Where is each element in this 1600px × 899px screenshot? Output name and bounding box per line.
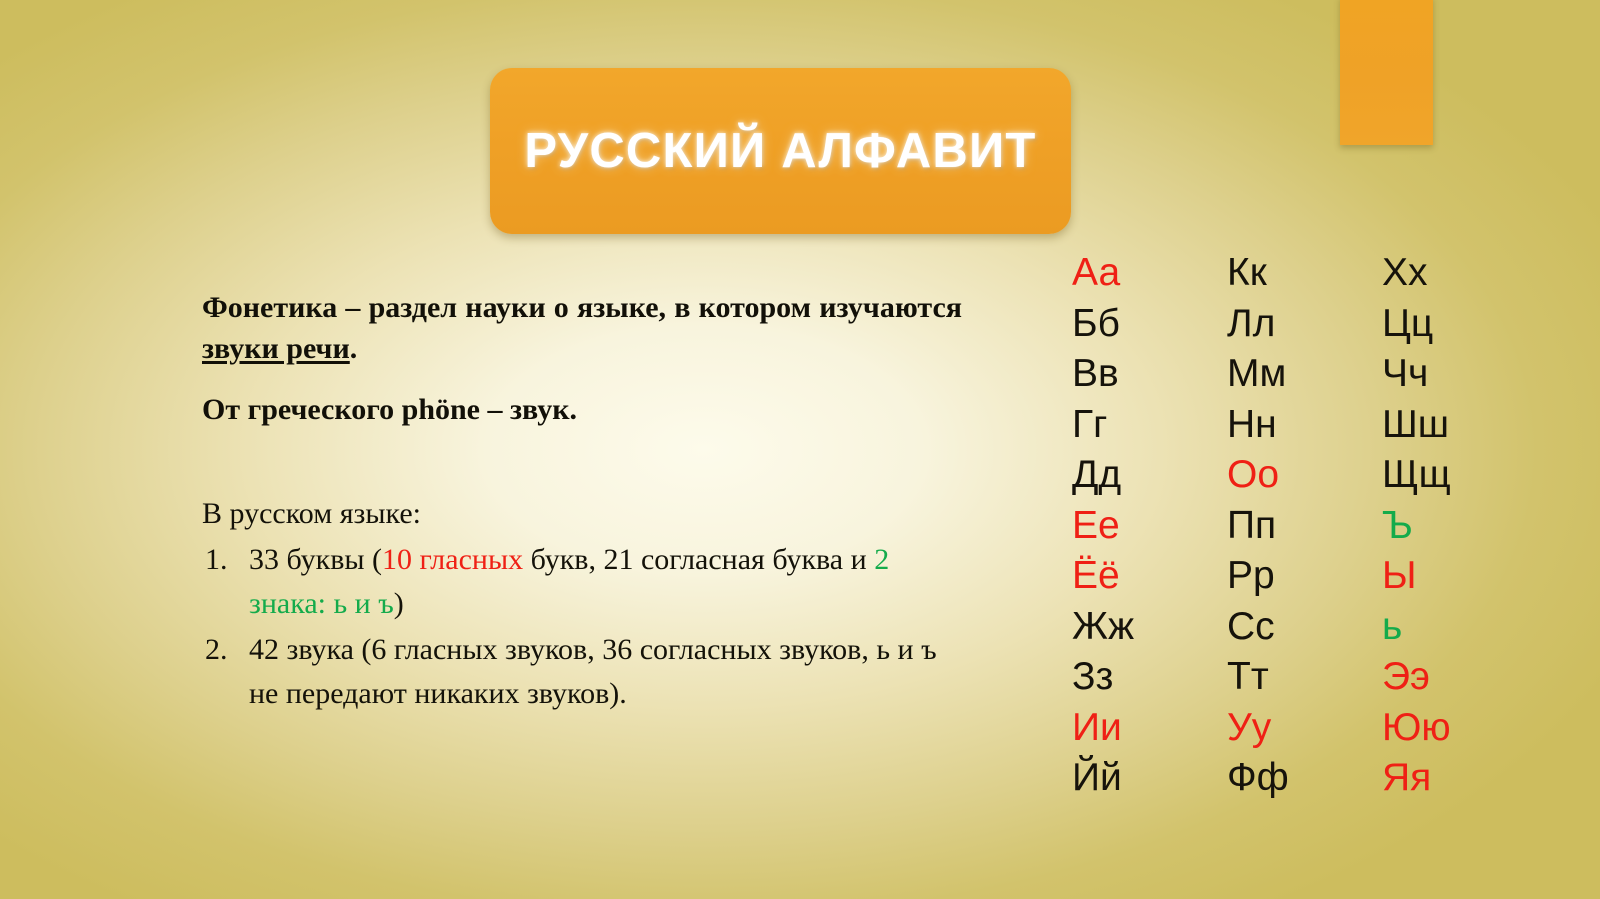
fact-number: 1. [205,538,241,582]
alphabet-letter: Хх [1382,248,1537,299]
alphabet-letter: Аа [1072,248,1227,299]
alphabet-letter: Жж [1072,602,1227,653]
alphabet-letter: ь [1382,602,1537,653]
alphabet-letter: Фф [1227,753,1382,804]
facts-block: В русском языке: 1.33 буквы (10 гласных … [202,494,962,716]
alphabet-letter: Гг [1072,400,1227,451]
alphabet-letter: Чч [1382,349,1537,400]
fact-item: 2.42 звука (6 гласных звуков, 36 согласн… [202,628,962,716]
alphabet-letter: Ии [1072,703,1227,754]
fact-text-run: 42 звука (6 гласных звуков, 36 согласных… [249,633,937,710]
fact-item: 1.33 буквы (10 гласных букв, 21 согласна… [202,538,962,626]
alphabet-letter: Щщ [1382,450,1537,501]
alphabet-letter: Вв [1072,349,1227,400]
facts-list: 1.33 буквы (10 гласных букв, 21 согласна… [202,538,962,716]
definition-text-lead: Фонетика – раздел науки о языке, в котор… [202,291,962,324]
alphabet-column: ХхЦцЧчШшЩщЪЫьЭэЮюЯя [1382,248,1537,804]
alphabet-letter: Ээ [1382,652,1537,703]
alphabet-letter: Ее [1072,501,1227,552]
alphabet-letter: Йй [1072,753,1227,804]
title-plaque: РУССКИЙ АЛФАВИТ [490,68,1071,234]
alphabet-letter: Пп [1227,501,1382,552]
alphabet-letter: Яя [1382,753,1537,804]
fact-text-run: ) [394,587,404,620]
definition-text-tail: . [350,332,358,365]
slide-canvas: РУССКИЙ АЛФАВИТ Фонетика – раздел науки … [0,0,1600,899]
fact-text-run: букв, 21 согласная буква и [523,543,874,576]
decorative-corner-bar [1340,0,1433,145]
alphabet-letter: Уу [1227,703,1382,754]
alphabet-letter: Оо [1227,450,1382,501]
alphabet-letter: Сс [1227,602,1382,653]
alphabet-letter: Рр [1227,551,1382,602]
alphabet-letter: Цц [1382,299,1537,350]
definition-emphasis: звуки речи [202,332,350,365]
fact-text-run: 33 буквы ( [249,543,382,576]
alphabet-letter: Шш [1382,400,1537,451]
alphabet-letter: Тт [1227,652,1382,703]
alphabet-letter: Лл [1227,299,1382,350]
alphabet-letter: Дд [1072,450,1227,501]
alphabet-letter: Нн [1227,400,1382,451]
alphabet-letter: Зз [1072,652,1227,703]
alphabet-column: АаБбВвГгДдЕеЁёЖжЗзИиЙй [1072,248,1227,804]
content-column: Фонетика – раздел науки о языке, в котор… [202,288,962,718]
alphabet-letter: Ёё [1072,551,1227,602]
fact-text-run: 10 гласных [382,543,523,576]
alphabet-letter: Ы [1382,551,1537,602]
page-title: РУССКИЙ АЛФАВИТ [524,123,1036,179]
etymology-paragraph: От греческого phöne – звук. [202,390,962,431]
alphabet-letter: Юю [1382,703,1537,754]
alphabet-grid: АаБбВвГгДдЕеЁёЖжЗзИиЙйКкЛлМмНнОоПпРрСсТт… [1072,248,1537,804]
definition-paragraph: Фонетика – раздел науки о языке, в котор… [202,288,962,370]
facts-intro: В русском языке: [202,494,962,534]
alphabet-letter: Ъ [1382,501,1537,552]
alphabet-letter: Бб [1072,299,1227,350]
alphabet-letter: Кк [1227,248,1382,299]
alphabet-column: КкЛлМмНнОоПпРрСсТтУуФф [1227,248,1382,804]
fact-number: 2. [205,628,241,672]
alphabet-letter: Мм [1227,349,1382,400]
